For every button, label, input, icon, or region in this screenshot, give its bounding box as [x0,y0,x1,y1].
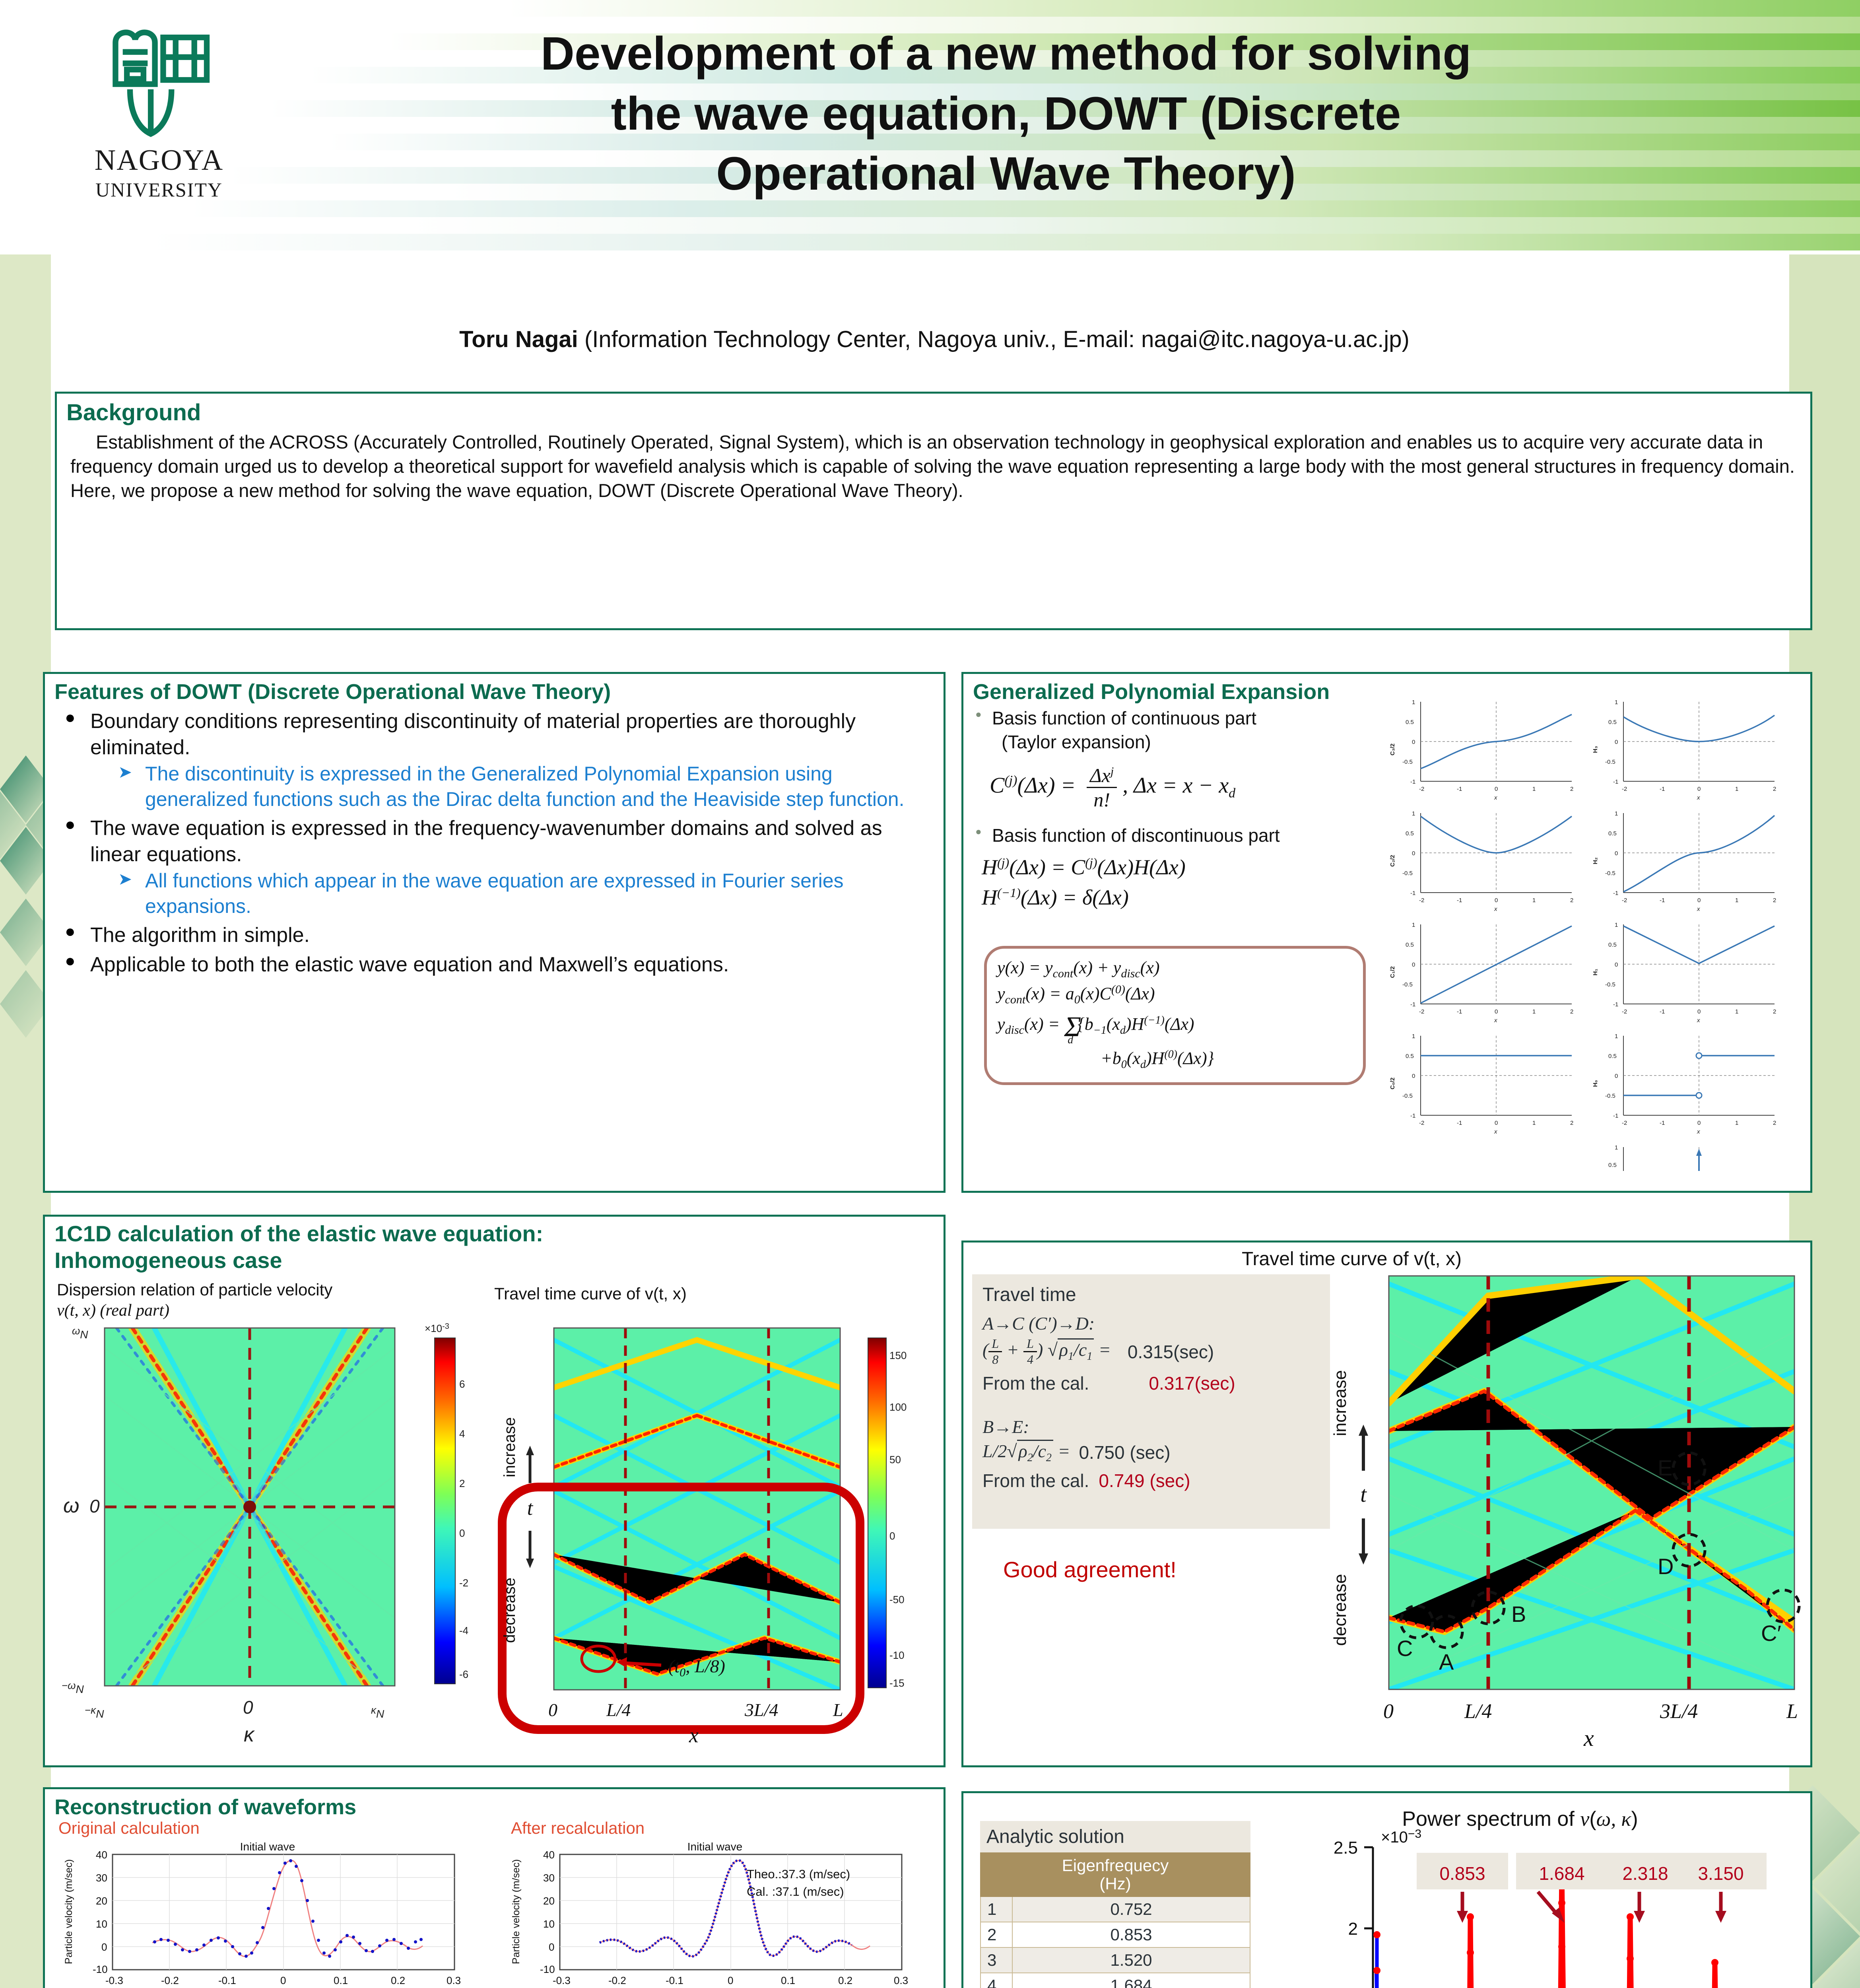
table-row: 20.853 [980,1922,1250,1947]
svg-text:2: 2 [1773,786,1776,792]
svg-text:0: 0 [1495,897,1498,904]
row-index: 4 [980,1973,1012,1988]
author-name: Toru Nagai [459,326,578,352]
travel-time-heading: Travel time [982,1284,1320,1306]
gpe-equation-h1: H(j)(Δx) = C(j)(Δx)H(Δx) [982,855,1371,879]
tt2-xtick-l: L [1786,1700,1798,1723]
svg-text:x: x [1494,1128,1497,1135]
reconstruction-heading: Reconstruction of waveforms [54,1795,944,1819]
svg-text:-0.5: -0.5 [1402,870,1413,877]
features-panel: Features of DOWT (Discrete Operational W… [43,672,946,1193]
title-line-2: the wave equation, DOWT (Discrete [270,84,1742,144]
svg-text:-0.2: -0.2 [161,1974,179,1986]
point-label-B: B [1511,1602,1526,1627]
svg-text:x: x [1697,794,1700,801]
analytic-col-header: Eigenfrequecy (Hz) [980,1853,1250,1897]
svg-text:1: 1 [1615,810,1618,817]
svg-text:-2: -2 [1419,1120,1424,1126]
svg-text:1: 1 [1412,810,1415,817]
table-row: 10.752 [980,1897,1250,1922]
svg-text:−κN: −κN [85,1704,104,1720]
point-label-A: A [1439,1649,1454,1674]
upper-annotations: 0.853 1.684 2.318 3.150 [1417,1853,1767,1923]
features-list: Boundary conditions representing discont… [59,708,932,978]
travel-case1-cal-label: From the cal. [982,1373,1089,1394]
svg-text:-0.3: -0.3 [553,1974,571,1986]
y-exponent: ×10−3 [1381,1827,1421,1846]
svg-text:1: 1 [1412,922,1415,928]
svg-text:κ: κ [244,1723,255,1746]
svg-text:-1: -1 [1660,897,1665,904]
svg-text:0: 0 [1495,1008,1498,1015]
travel-time-panel: Travel time curve of v(t, x) Travel time… [961,1241,1812,1767]
tt2-t-symbol: t [1360,1482,1367,1507]
svg-text:x: x [1697,1017,1700,1024]
svg-text:-4: -4 [459,1625,468,1637]
svg-text:C₃/2: C₃/2 [1389,744,1396,755]
analytic-col-header-l1: Eigenfrequecy [1062,1856,1169,1875]
gpe-eq-ydisc: ydisc(x) = Σd {b−1(xd)H(−1)(Δx) [997,1010,1353,1046]
travel-case2-cal-label: From the cal. [982,1470,1089,1491]
travel-time-curve-large: C A B D E C′ 0 L/4 3L/4 L x increase dec… [1325,1272,1806,1761]
svg-text:-10: -10 [93,1963,108,1975]
feature-item: The algorithm in simple. [59,922,932,948]
svg-text:0: 0 [1412,850,1415,857]
recon-col-right-label: After recalculation [511,1819,645,1838]
svg-text:0: 0 [1615,739,1618,745]
table-row: 41.684 [980,1973,1250,1988]
svg-text:10: 10 [543,1918,555,1930]
svg-text:-0.1: -0.1 [666,1974,683,1986]
logo-name-big: NAGOYA [95,144,223,177]
table-row: 31.520 [980,1947,1250,1973]
svg-text:-2: -2 [1419,897,1424,904]
analytic-caption: Analytic solution [980,1821,1250,1852]
svg-text:0: 0 [1697,786,1701,792]
svg-text:ωN: ωN [72,1325,88,1341]
svg-text:-2: -2 [1622,1008,1627,1015]
svg-text:2: 2 [1773,1008,1776,1015]
tt-xtick-l4: L/4 [606,1700,631,1720]
svg-text:H₀: H₀ [1592,1080,1599,1087]
svg-text:-0.3: -0.3 [105,1974,123,1986]
svg-text:-2: -2 [1622,1120,1627,1126]
annotation-3p150: 3.150 [1698,1863,1744,1884]
svg-text:-0.1: -0.1 [218,1974,236,1986]
svg-text:-1: -1 [1660,1008,1665,1015]
svg-text:-0.5: -0.5 [1605,981,1615,988]
travel-case1-cal: 0.317(sec) [1149,1373,1235,1394]
svg-text:C₂/2: C₂/2 [1389,855,1396,867]
svg-text:-0.5: -0.5 [1402,1093,1413,1099]
row-value: 0.853 [1012,1922,1250,1947]
t-decrease-label: decrease [501,1578,518,1643]
svg-text:1: 1 [1615,922,1618,928]
svg-text:40: 40 [96,1849,107,1861]
gpe-equation-h2: H(−1)(Δx) = δ(Δx) [982,885,1371,910]
dispersion-relation-plot: ωN 0 −ωN ω −κN 0 κN κ ×10-3 64 20 -2-4 -… [53,1316,490,1757]
svg-text:-0.2: -0.2 [608,1974,626,1986]
travel-time-caption: Travel time curve of v(t, x) [494,1284,687,1303]
y-tick-2p5: 2.5 [1334,1838,1358,1858]
poster-title: Development of a new method for solving … [270,24,1742,204]
dispersion-caption-line1: Dispersion relation of particle velocity [57,1280,474,1299]
power-spectrum-panel: Analytic solution Eigenfrequecy (Hz) 10.… [961,1791,1812,1988]
svg-text:0: 0 [1412,739,1415,745]
svg-text:-0.5: -0.5 [1402,759,1413,765]
row-value: 1.520 [1012,1947,1250,1973]
svg-text:1: 1 [1615,1033,1618,1040]
svg-text:20: 20 [96,1895,107,1907]
travel-time-curve-small: (t0, L/8) 0 L/4 3L/4 L x increase decrea… [490,1316,940,1761]
svg-text:50: 50 [889,1454,901,1466]
tt2-increase-label: increase [1330,1370,1350,1436]
svg-text:-1: -1 [1410,1112,1415,1119]
svg-text:2: 2 [1570,786,1573,792]
svg-text:0.2: 0.2 [838,1974,852,1986]
poster-root: NAGOYA UNIVERSITY Development of a new m… [0,0,1860,1988]
point-label-C: C [1397,1636,1413,1661]
svg-text:-10: -10 [540,1963,555,1975]
one-c-one-d-panel: 1C1D calculation of the elastic wave equ… [43,1215,946,1767]
t0-annotation-label: (t0, L/8) [668,1656,725,1679]
svg-text:10: 10 [96,1918,107,1930]
svg-text:2: 2 [1773,897,1776,904]
t-symbol: t [527,1497,534,1520]
svg-text:0.5: 0.5 [1406,942,1414,948]
svg-text:-15: -15 [889,1677,905,1689]
point-label-E: E [1658,1455,1672,1480]
tt2-xtick-0: 0 [1383,1700,1394,1723]
svg-text:κN: κN [371,1704,384,1720]
svg-text:-2: -2 [1622,786,1627,792]
feature-sublist: The discontinuity is expressed in the Ge… [116,761,932,812]
travel-agreement-text: Good agreement! [1003,1557,1177,1582]
tt2-xlabel: x [1583,1725,1594,1751]
svg-text:-6: -6 [459,1668,468,1680]
gpe-eq-y: y(x) = ycont(x) + ydisc(x) [997,957,1353,980]
svg-text:0: 0 [1615,1073,1618,1079]
feature-item: The wave equation is expressed in the fr… [59,815,932,919]
nagoya-university-logo: NAGOYA UNIVERSITY [76,22,243,209]
svg-text:20: 20 [543,1895,555,1907]
features-heading: Features of DOWT (Discrete Operational W… [54,679,944,704]
svg-text:0: 0 [280,1974,286,1986]
svg-text:0: 0 [1495,786,1498,792]
svg-text:0.5: 0.5 [1608,942,1617,948]
svg-text:0.5: 0.5 [1406,1053,1414,1060]
tt-xtick-3l4: 3L/4 [744,1700,778,1720]
gpe-bullet-2: Basis function of discontinuous part [974,825,1371,846]
svg-text:x: x [1494,794,1497,801]
svg-text:-1: -1 [1613,779,1618,785]
plot-title: Initial wave [240,1840,295,1853]
svg-text:0.5: 0.5 [1608,1162,1617,1169]
analytic-solution-block: Analytic solution Eigenfrequecy (Hz) 10.… [980,1821,1250,1988]
svg-text:0: 0 [1412,1073,1415,1079]
svg-text:0: 0 [1412,961,1415,968]
svg-text:0: 0 [243,1697,253,1718]
feature-sublist: All functions which appear in the wave e… [116,868,932,919]
svg-text:-0.5: -0.5 [1605,759,1615,765]
analytic-solution-table: Analytic solution Eigenfrequecy (Hz) 10.… [980,1821,1250,1988]
svg-text:-1: -1 [1613,1112,1618,1119]
logo-name-small: UNIVERSITY [76,178,243,201]
travel-case2-row: L/2√ρ2/c2 = 0.750 (sec) [982,1441,1320,1464]
title-line-3: Operational Wave Theory) [270,144,1742,204]
power-spectrum-chart: Power spectrum of v(ω, κ) 0 0.5 1 1.5 2 … [1242,1804,1806,1988]
analytic-col-header-l2: (Hz) [1099,1874,1131,1893]
feature-text: The wave equation is expressed in the fr… [90,817,882,866]
theo-label: Theo.:37.3 (m/sec) [747,1867,850,1881]
feature-item: Boundary conditions representing discont… [59,708,932,812]
row-value: 1.684 [1012,1973,1250,1988]
svg-text:-1: -1 [1660,1120,1665,1126]
svg-text:H₂: H₂ [1592,857,1599,864]
svg-text:0: 0 [1495,1120,1498,1126]
point-label-D: D [1658,1554,1674,1579]
svg-text:0.2: 0.2 [391,1974,405,1986]
svg-text:1: 1 [1615,1144,1618,1151]
svg-text:0: 0 [889,1530,895,1542]
svg-text:150: 150 [889,1349,907,1361]
travel-case2-formula: L/2√ρ2/c2 = [982,1441,1070,1464]
svg-text:0.1: 0.1 [334,1974,348,1986]
background-panel: Background Establishment of the ACROSS (… [55,392,1812,630]
svg-text:-2: -2 [1419,786,1424,792]
travel-case1-label: A→C (C′)→D: [982,1313,1320,1334]
svg-text:4: 4 [459,1428,465,1440]
svg-text:0: 0 [549,1941,554,1953]
svg-text:-1: -1 [1410,890,1415,897]
author-line: Toru Nagai (Information Technology Cente… [119,326,1749,353]
svg-text:×10-3: ×10-3 [425,1322,449,1334]
svg-text:ω: ω [63,1494,80,1517]
plot-title: Initial wave [687,1840,743,1853]
svg-text:1: 1 [1412,1033,1415,1040]
travel-case1-row: (L8 + L4) √ρ1/c1 = 0.315(sec) [982,1336,1320,1367]
svg-text:1: 1 [1615,699,1618,706]
svg-text:0: 0 [459,1527,465,1539]
svg-text:2: 2 [1570,897,1573,904]
annotation-0p853: 0.853 [1439,1863,1485,1884]
annotation-2p318: 2.318 [1622,1863,1668,1884]
svg-text:1: 1 [1532,1008,1536,1015]
svg-text:-50: -50 [889,1594,905,1606]
svg-text:C₁/2: C₁/2 [1389,966,1396,978]
tt2-decrease-label: decrease [1330,1574,1350,1646]
svg-text:1: 1 [1532,897,1536,904]
svg-text:40: 40 [543,1849,555,1861]
svg-text:1: 1 [1412,699,1415,706]
svg-text:0.3: 0.3 [894,1974,908,1986]
svg-text:H₁: H₁ [1592,969,1599,975]
svg-text:6: 6 [459,1378,465,1390]
svg-text:-2: -2 [1419,1008,1424,1015]
svg-text:0: 0 [89,1496,100,1516]
gpe-eq-ycont: ycont(x) = a0(x)C(0)(Δx) [997,983,1353,1006]
svg-text:2: 2 [459,1477,465,1489]
feature-sub-item: All functions which appear in the wave e… [116,868,932,919]
recon-right-initial-wave: Initial wave Theo.:37.3 (m/sec) Cal. :37… [500,1840,942,1988]
travel-case2-cal: 0.749 (sec) [1099,1470,1190,1491]
svg-text:x: x [1494,1017,1497,1024]
feature-sub-item: The discontinuity is expressed in the Ge… [116,761,932,812]
feature-item: Applicable to both the elastic wave equa… [59,951,932,978]
svg-text:C₀/2: C₀/2 [1389,1077,1396,1089]
gpe-basis-function-plots: 10.50 -0.5-1 -2-10 12 x C₃/2 10.50 -0.5-… [1385,694,1802,1171]
chart-title: Power spectrum of v(ω, κ) [1402,1807,1638,1831]
svg-text:-10: -10 [889,1649,905,1661]
gpe-text-column: Basis function of continuous part (Taylo… [974,707,1371,910]
svg-text:1: 1 [1735,1120,1738,1126]
travel-case2-label: B→E: [982,1416,1320,1437]
tt2-xtick-3l4: 3L/4 [1660,1700,1698,1723]
svg-text:1: 1 [1735,897,1738,904]
y-tick-2: 2 [1348,1919,1358,1939]
svg-text:-1: -1 [1613,890,1618,897]
reconstruction-panel: Reconstruction of waveforms Original cal… [43,1787,946,1988]
svg-text:-1: -1 [1457,1008,1462,1015]
gpe-equation-c: C(j)(Δx) = Δxj n! , Δx = x − xd [990,764,1371,811]
row-value: 0.752 [1012,1897,1250,1922]
svg-text:0.5: 0.5 [1608,830,1617,837]
travel-case1-formula: (L8 + L4) √ρ1/c1 = [982,1336,1111,1367]
gpe-bullet-1: Basis function of continuous part [974,707,1371,729]
svg-text:0.5: 0.5 [1608,1053,1617,1060]
svg-text:-0.5: -0.5 [1605,1093,1615,1099]
row-index: 1 [980,1897,1012,1922]
row-index: 3 [980,1947,1012,1973]
svg-text:1: 1 [1532,786,1536,792]
svg-text:-1: -1 [1660,786,1665,792]
svg-text:30: 30 [543,1872,555,1884]
svg-text:1: 1 [1735,786,1738,792]
t-increase-label: increase [501,1417,518,1477]
svg-text:0: 0 [1697,1120,1701,1126]
svg-text:-2: -2 [1622,897,1627,904]
svg-text:100: 100 [889,1401,907,1413]
row-index: 2 [980,1922,1012,1947]
svg-text:H₃: H₃ [1592,746,1599,753]
svg-text:-0.5: -0.5 [1605,870,1615,877]
point-label-Cprime: C′ [1761,1621,1781,1646]
travel-time-text-block: Travel time A→C (C′)→D: (L8 + L4) √ρ1/c1… [972,1274,1330,1529]
svg-text:2: 2 [1570,1008,1573,1015]
travel-case1-cal-row: From the cal. 0.317(sec) [982,1373,1320,1394]
travel-case2-cal-row: From the cal. 0.749 (sec) [982,1470,1320,1491]
gpe-eq-ydisc2: +b0(xd)H(0)(Δx)} [1101,1048,1353,1071]
svg-text:-1: -1 [1457,897,1462,904]
nagoya-seal-icon [93,22,225,141]
author-affiliation: (Information Technology Center, Nagoya u… [578,326,1410,352]
feature-text: Boundary conditions representing discont… [90,710,856,759]
svg-text:1: 1 [1532,1120,1536,1126]
background-text: Establishment of the ACROSS (Accurately … [70,430,1797,503]
svg-text:0.5: 0.5 [1406,830,1414,837]
tt-xtick-0: 0 [548,1700,557,1720]
svg-text:-0.5: -0.5 [1402,981,1413,988]
title-line-1: Development of a new method for solving [270,24,1742,84]
svg-text:0: 0 [1615,850,1618,857]
recon-left-initial-wave: Initial wave [53,1840,494,1988]
svg-text:-1: -1 [1457,1120,1462,1126]
svg-text:-1: -1 [1410,779,1415,785]
svg-text:-1: -1 [1457,786,1462,792]
svg-text:−ωN: −ωN [62,1679,84,1695]
gpe-boxed-equations: y(x) = ycont(x) + ydisc(x) ycont(x) = a0… [984,946,1366,1085]
section-1c1d-heading-1: 1C1D calculation of the elastic wave equ… [54,1221,944,1246]
svg-text:0: 0 [1697,1008,1701,1015]
svg-text:-2: -2 [459,1577,468,1589]
svg-text:x: x [1697,1128,1700,1135]
svg-text:x: x [1697,906,1700,912]
gpe-panel: Generalized Polynomial Expansion Basis f… [961,672,1812,1193]
svg-text:30: 30 [96,1872,107,1884]
svg-text:x: x [1494,906,1497,912]
svg-text:0.5: 0.5 [1406,719,1414,726]
svg-text:2: 2 [1773,1120,1776,1126]
svg-text:Particle velocity (m/sec): Particle velocity (m/sec) [511,1859,522,1964]
travel-case2-theory: 0.750 (sec) [1079,1442,1170,1463]
travel-case1-theory: 0.315(sec) [1128,1341,1214,1363]
svg-text:-1: -1 [1613,1001,1618,1008]
svg-text:1: 1 [1735,1008,1738,1015]
svg-text:2: 2 [1570,1120,1573,1126]
cal-label: Cal. :37.1 (m/sec) [747,1885,844,1899]
gpe-bullet-1-sub: (Taylor expansion) [1002,731,1371,753]
svg-text:0: 0 [728,1974,733,1986]
svg-text:0.3: 0.3 [447,1974,461,1986]
recon-col-left-label: Original calculation [58,1819,200,1838]
tt-xlabel: x [689,1723,699,1747]
section-1c1d-heading-2: Inhomogeneous case [54,1247,944,1273]
svg-text:-1: -1 [1410,1001,1415,1008]
travel-plot-title: Travel time curve of v(t, x) [1242,1248,1462,1270]
tt-xtick-l: L [833,1700,843,1720]
svg-text:0: 0 [1697,897,1701,904]
svg-text:Particle velocity (m/sec): Particle velocity (m/sec) [63,1859,74,1964]
svg-text:0.5: 0.5 [1608,719,1617,726]
svg-text:0: 0 [1615,961,1618,968]
svg-text:0.1: 0.1 [781,1974,795,1986]
tt2-xtick-l4: L/4 [1464,1700,1492,1723]
background-heading: Background [66,399,1810,426]
svg-text:0: 0 [101,1941,107,1953]
annotation-1p684: 1.684 [1539,1863,1584,1884]
